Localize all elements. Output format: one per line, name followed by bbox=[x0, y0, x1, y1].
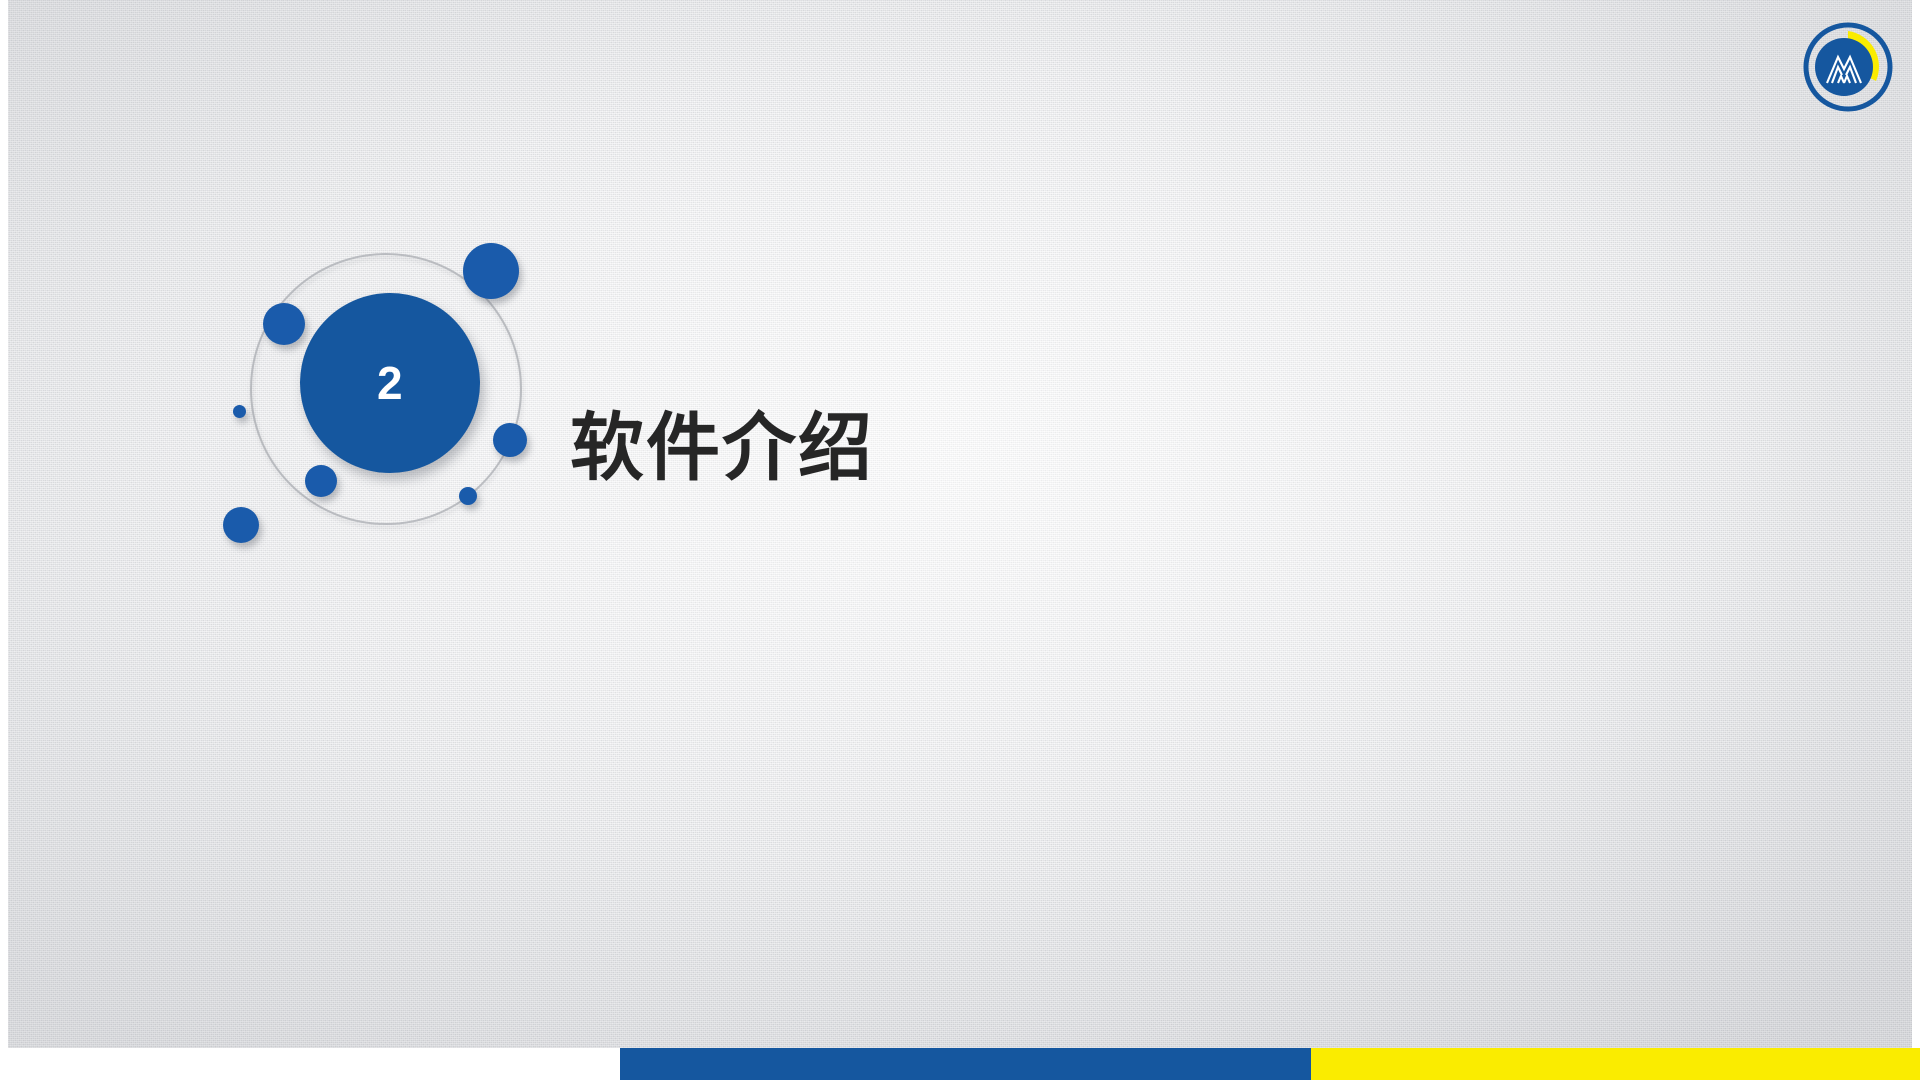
section-number-disc: 2 bbox=[300, 293, 480, 473]
orbit-dot-right bbox=[493, 423, 527, 457]
orbit-dot-upper-left bbox=[263, 303, 305, 345]
orbit-dot-small-bottom-right bbox=[459, 487, 477, 505]
section-number-graphic: 2 bbox=[195, 225, 595, 575]
orbit-dot-lower-left bbox=[223, 507, 259, 543]
company-logo-icon bbox=[1798, 17, 1898, 117]
presentation-slide: 2 软件介绍 bbox=[0, 0, 1920, 1080]
section-number-label: 2 bbox=[377, 360, 403, 406]
orbit-dot-bottom bbox=[305, 465, 337, 497]
company-logo bbox=[1798, 17, 1898, 117]
orbit-dot-large-top bbox=[463, 243, 519, 299]
footer-bar-yellow bbox=[1311, 1048, 1920, 1080]
orbit-dot-tiny-left bbox=[233, 405, 246, 418]
footer-bar-blue bbox=[620, 1048, 1311, 1080]
section-title: 软件介绍 bbox=[570, 408, 874, 489]
